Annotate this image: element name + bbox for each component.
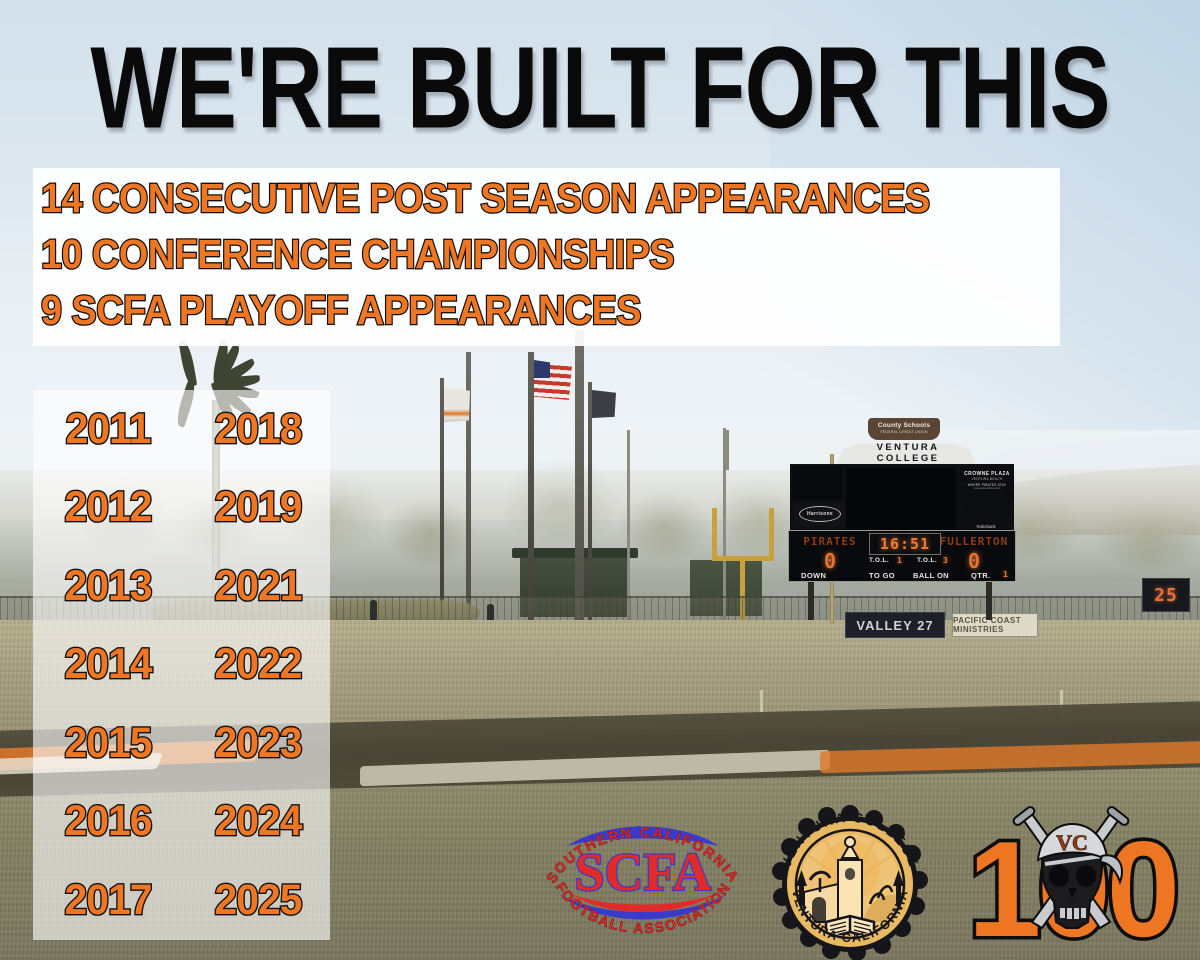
play-clock: 25 — [1142, 578, 1190, 612]
skull-eye-left — [1049, 865, 1069, 887]
skull-eye-right — [1076, 865, 1096, 887]
scoreboard-venue-name: VENTURA COLLEGE — [858, 442, 958, 464]
year-item: 2019 — [187, 486, 330, 529]
game-clock: 16:51 — [869, 533, 941, 555]
scfa-logo: SCFA SOUTHERN CALIFORNIA FOOTBALL ASSOCI… — [527, 802, 759, 950]
tol-left-value: 1 — [897, 556, 902, 565]
scoreboard-display-area — [846, 468, 956, 530]
venue-line-2: COLLEGE — [858, 453, 958, 464]
tol-right-value: 3 — [943, 556, 948, 565]
flag-pow — [592, 390, 616, 418]
stat-line-scfa-playoff-appearances: 9 SCFA PLAYOFF APPEARANCES — [41, 290, 641, 331]
sponsor-county-schools-sub: FEDERAL CREDIT UNION — [880, 431, 927, 435]
year-item: 2022 — [187, 643, 330, 686]
crowne-line-4: www.cpventura.com — [962, 487, 1012, 491]
flagpole-pow — [588, 382, 592, 624]
sponsor-county-schools-name: County Schools — [878, 423, 930, 430]
stats-panel: 14 CONSECUTIVE POST SEASON APPEARANCES 1… — [33, 168, 1060, 346]
year-item: 2018 — [187, 408, 330, 451]
sponsor-harrisons-label: Harrisons — [799, 506, 841, 522]
stadium-scoreboard: County Schools FEDERAL CREDIT UNION VENT… — [782, 418, 1022, 600]
home-team-name: PIRATES — [791, 535, 869, 548]
play-clock-value: 25 — [1154, 585, 1178, 606]
flagpole-california — [440, 378, 444, 624]
goalpost-upright-right — [769, 508, 774, 560]
flag-california — [444, 388, 470, 422]
centennial-100-logo: 100 — [950, 800, 1195, 958]
ventura-college-seal: VENTURA COLLEGE VENTURA CALIFORNIA — [766, 800, 934, 960]
ball-on-label: BALL ON — [913, 571, 949, 580]
tol-left-label: T.O.L. — [869, 557, 889, 564]
sponsor-harrisons: Harrisons — [794, 502, 846, 526]
down-label: DOWN — [801, 571, 826, 580]
light-pole-5 — [726, 430, 729, 470]
qtr-value: 1 — [1003, 570, 1008, 579]
year-item: 2012 — [37, 486, 180, 529]
year-item: 2013 — [37, 565, 180, 608]
game-clock-value: 16:51 — [880, 535, 930, 553]
sponsor-rabobank: Rabobank — [962, 508, 1010, 530]
logo-row: SCFA SOUTHERN CALIFORNIA FOOTBALL ASSOCI… — [0, 790, 1200, 960]
to-go-label: TO GO — [869, 571, 895, 580]
bandana-monogram: VC — [1056, 830, 1088, 855]
year-item: 2021 — [187, 565, 330, 608]
stat-line-consecutive-postseason: 14 CONSECUTIVE POST SEASON APPEARANCES — [41, 178, 930, 219]
goalpost-upright-left — [712, 508, 717, 560]
scfa-monogram: SCFA — [574, 842, 711, 902]
light-pole-2 — [575, 330, 584, 624]
home-team-score: 0 — [791, 549, 869, 573]
away-team-name: FULLERTON — [935, 535, 1013, 548]
flagpole-usa — [528, 352, 534, 624]
page-title: WE'RE BUILT FOR THIS — [72, 30, 1128, 146]
scoreboard-scores-panel: PIRATES 0 16:51 FULLERTON 0 T.O.L. 1 T.O… — [788, 530, 1016, 582]
year-item: 2015 — [37, 722, 180, 765]
scoreboard-support-leg — [986, 582, 992, 620]
scoreboard-support-leg — [808, 582, 814, 620]
year-item: 2023 — [187, 722, 330, 765]
flag-usa — [534, 360, 572, 400]
fence-banner-ad: PACIFIC COAST MINISTRIES — [952, 613, 1038, 637]
sponsor-crowne-plaza: CROWNE PLAZA VENTURA BEACH WHERE PIRATES… — [960, 468, 1014, 506]
qtr-label: QTR. — [971, 571, 991, 580]
year-item: 2014 — [37, 643, 180, 686]
venue-line-1: VENTURA — [858, 442, 958, 453]
crowne-line-2: VENTURA BEACH — [962, 477, 1012, 481]
fence-sign-valley: VALLEY 27 — [845, 612, 945, 638]
year-item: 2011 — [37, 408, 180, 451]
stat-line-conference-championships: 10 CONFERENCE CHAMPIONSHIPS — [41, 234, 674, 275]
scoreboard-top-sponsor: County Schools FEDERAL CREDIT UNION — [868, 418, 940, 440]
scoreboard-left-panel — [792, 466, 842, 500]
tol-right-label: T.O.L. — [917, 557, 937, 564]
poster-canvas: VALLEY 27 PACIFIC COAST MINISTRIES 25 Co… — [0, 0, 1200, 960]
goalpost-crossbar — [712, 556, 774, 561]
